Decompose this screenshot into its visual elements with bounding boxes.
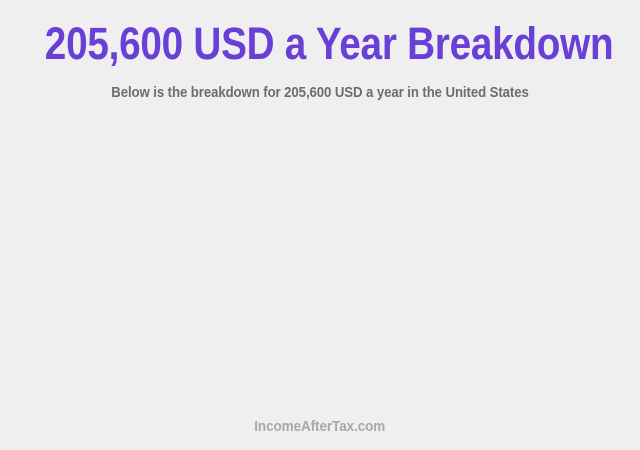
page-root: 205,600 USD a Year Breakdown Below is th… — [0, 0, 640, 450]
site-watermark: IncomeAfterTax.com — [255, 418, 386, 436]
page-subtitle: Below is the breakdown for 205,600 USD a… — [38, 84, 601, 102]
breakdown-content-area — [0, 116, 640, 410]
page-title: 205,600 USD a Year Breakdown — [45, 18, 595, 70]
page-footer: IncomeAfterTax.com — [0, 418, 640, 436]
